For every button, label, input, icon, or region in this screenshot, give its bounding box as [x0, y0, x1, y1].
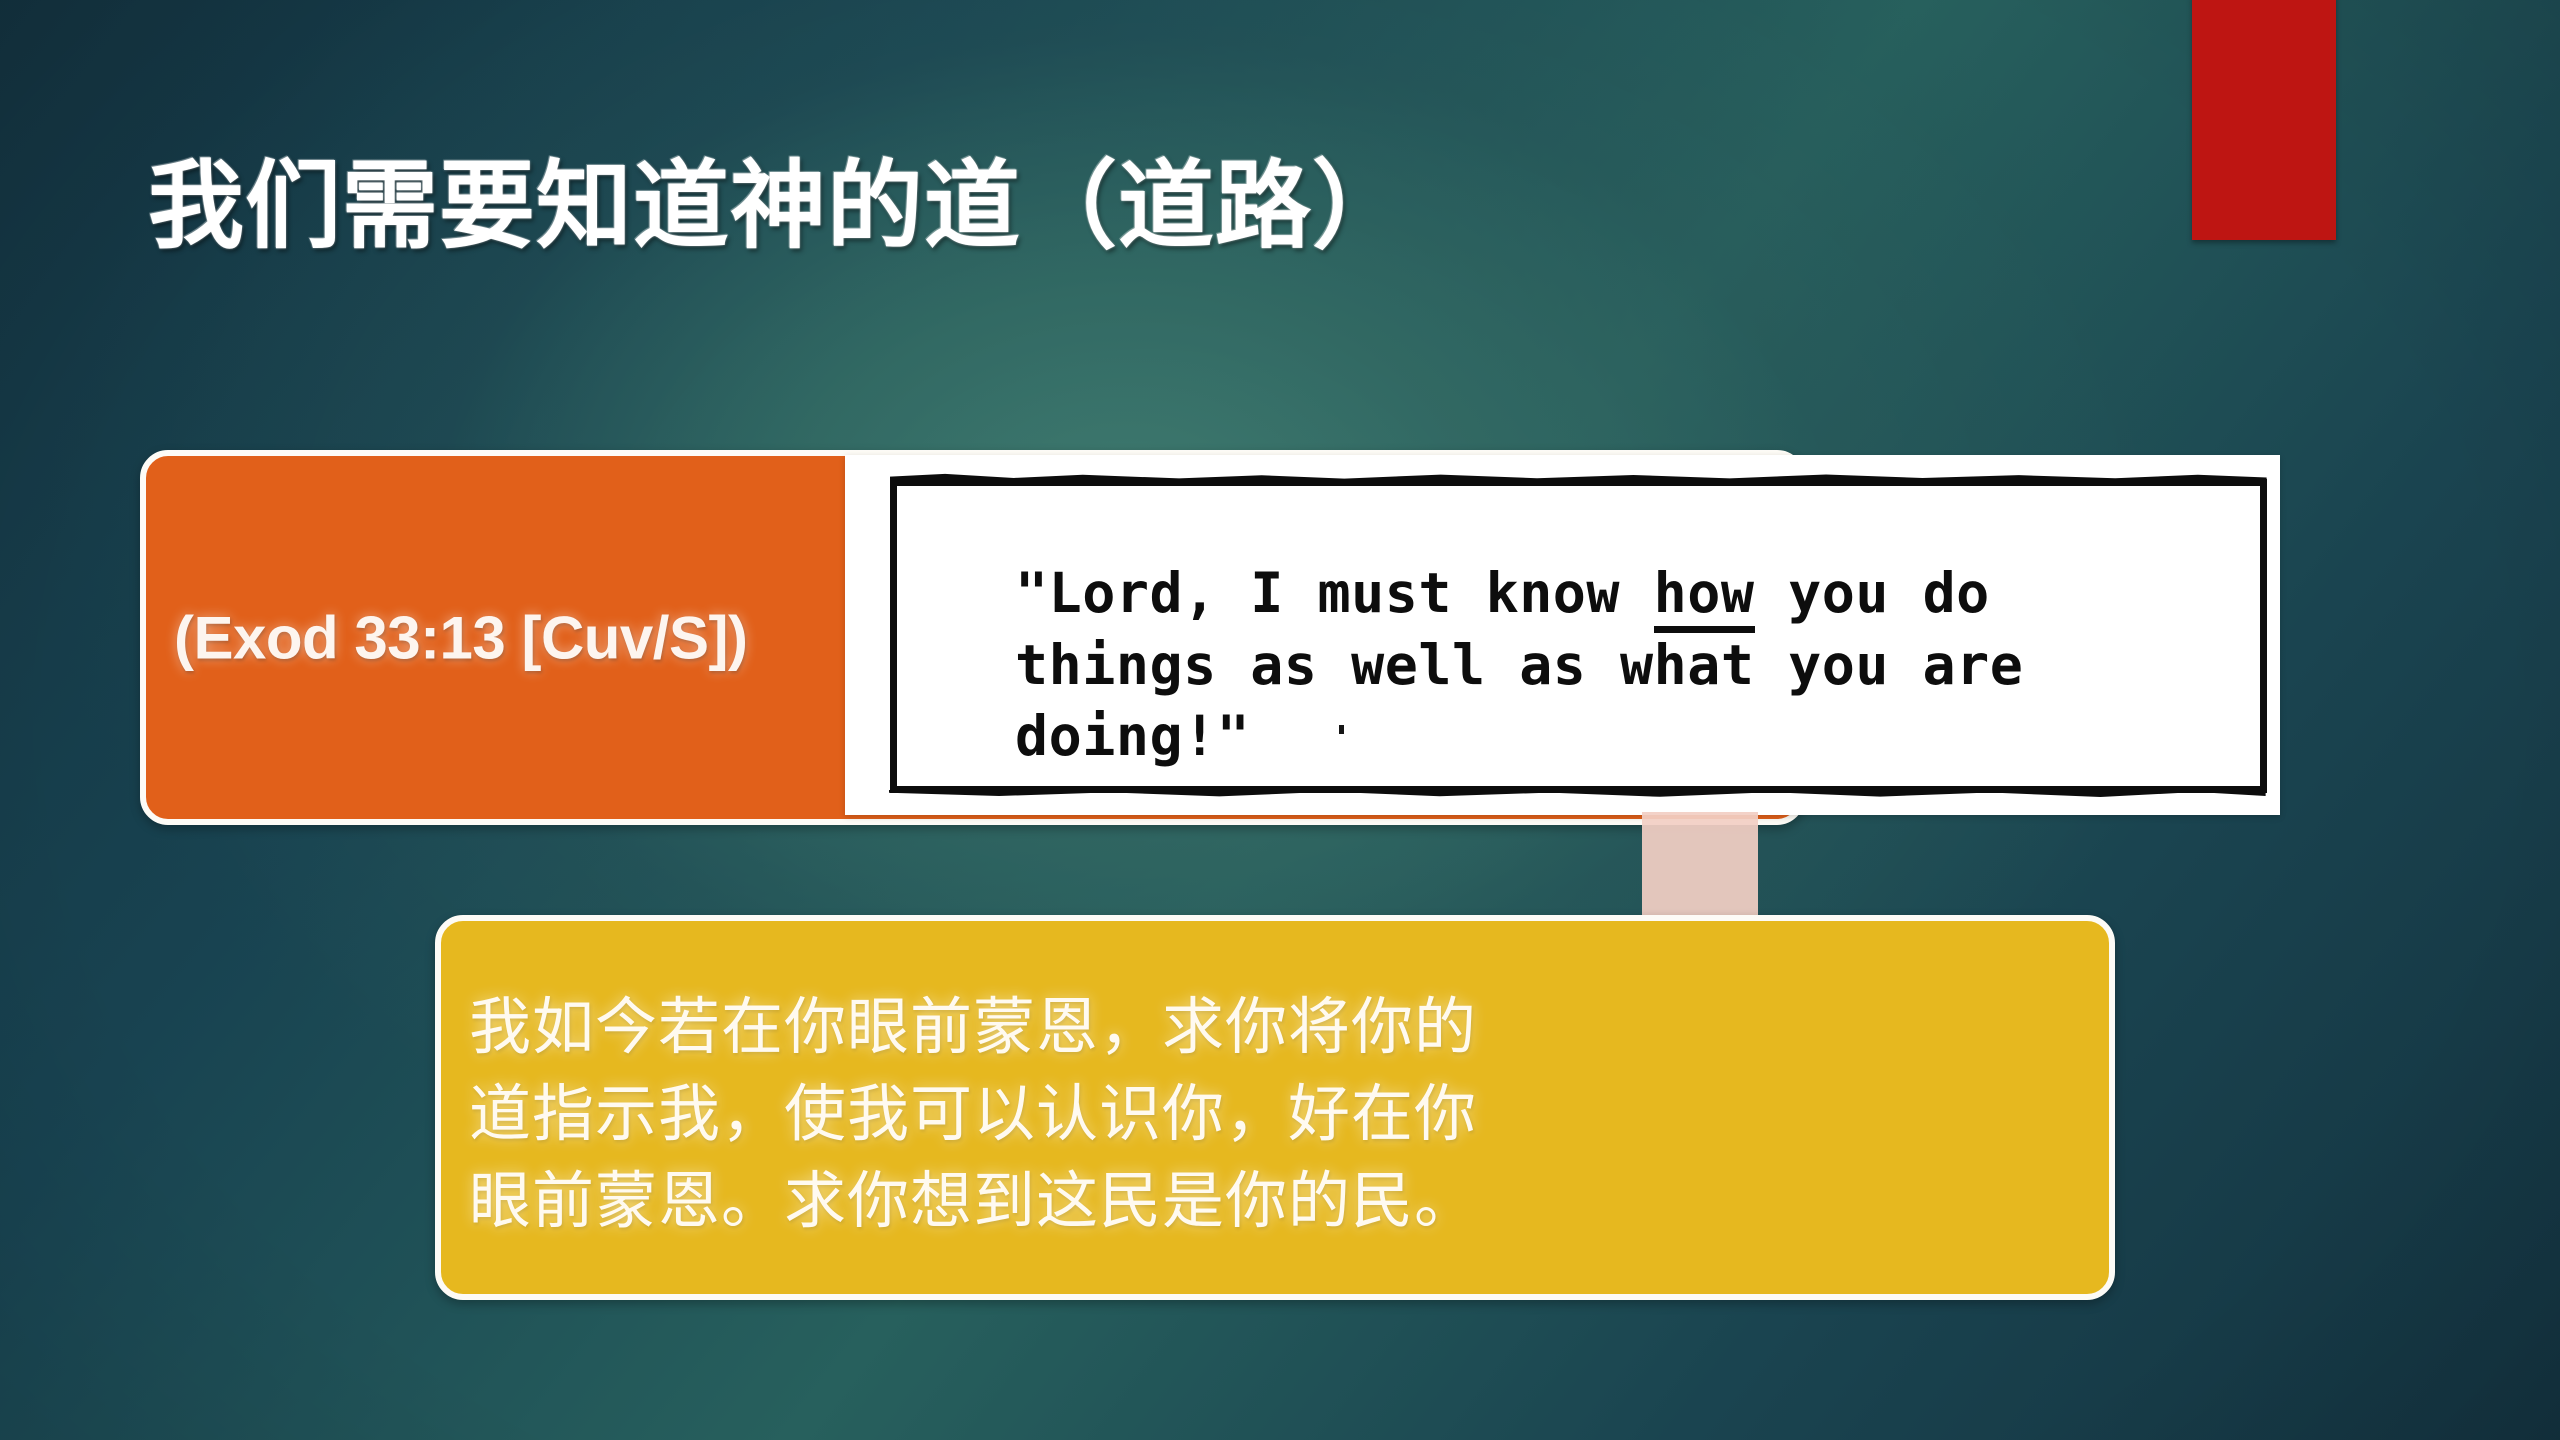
quote-underlined-word: how	[1654, 561, 1755, 633]
quote-line2: things as well as what you are	[1015, 633, 2023, 697]
quote-line1-pre: "Lord, I must know	[1015, 561, 1654, 625]
verse-line-1: 我如今若在你眼前蒙恩，求你将你的	[469, 985, 2069, 1072]
presentation-slide: 我们需要知道神的道（道路） (Exod 33:13 [Cuv/S]) "Lord…	[0, 0, 2560, 1440]
quote-image-text: "Lord, I must know how you dothings as w…	[1015, 558, 2220, 773]
slide-title: 我们需要知道神的道（道路）	[148, 150, 2048, 263]
quote-line3: doing!"	[1015, 704, 1250, 768]
scanned-quote-image: "Lord, I must know how you dothings as w…	[845, 455, 2280, 815]
verse-line-3: 眼前蒙恩。求你想到这民是你的民。	[469, 1159, 2069, 1246]
verse-line-2: 道指示我，使我可以认识你，好在你	[469, 1072, 2069, 1159]
quote-line1-post: you do	[1755, 561, 1990, 625]
scan-speck-artifact	[1339, 725, 1344, 734]
red-accent-block	[2192, 0, 2336, 240]
chinese-verse-text: 我如今若在你眼前蒙恩，求你将你的 道指示我，使我可以认识你，好在你 眼前蒙恩。求…	[469, 985, 2069, 1245]
chinese-verse-card: 我如今若在你眼前蒙恩，求你将你的 道指示我，使我可以认识你，好在你 眼前蒙恩。求…	[435, 915, 2115, 1300]
scripture-reference-label: (Exod 33:13 [Cuv/S])	[174, 603, 747, 672]
quote-image-frame: "Lord, I must know how you dothings as w…	[890, 479, 2267, 793]
